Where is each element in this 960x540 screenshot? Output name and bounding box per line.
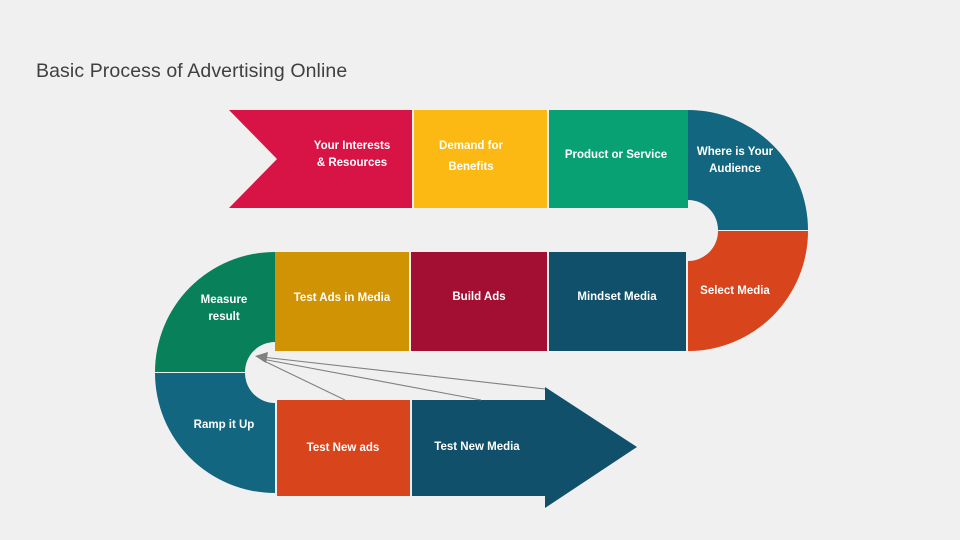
feedback-arrowhead-icon — [255, 352, 268, 363]
step-5-label: Select Media — [700, 285, 770, 297]
step-2-shape[interactable] — [414, 110, 547, 208]
step-1-label-line2: & Resources — [317, 157, 387, 169]
step-2-label-line2: Benefits — [448, 161, 493, 173]
step-10-label: Ramp it Up — [194, 419, 255, 431]
step-4-label-line1: Where is Your — [697, 146, 774, 158]
step-2-label-line1: Demand for — [439, 140, 503, 152]
step-10-shape[interactable] — [155, 373, 275, 493]
step-11-label: Test New ads — [307, 442, 380, 454]
step-12-label: Test New Media — [434, 441, 520, 453]
step-1-label-line1: Your Interests — [314, 140, 390, 152]
step-8-label: Test Ads in Media — [294, 292, 391, 304]
feedback-line-1 — [262, 360, 345, 400]
process-diagram: Your Interests & Resources Demand for Be… — [0, 0, 960, 540]
step-9-label-line2: result — [208, 311, 239, 323]
feedback-line-3 — [262, 357, 545, 389]
step-9-label-line1: Measure — [201, 294, 248, 306]
step-3-label: Product or Service — [565, 149, 667, 161]
step-4-label-line2: Audience — [709, 163, 761, 175]
feedback-connectors — [255, 352, 545, 400]
slide-canvas: Basic Process of Advertising Online Your… — [0, 0, 960, 540]
step-7-label: Build Ads — [452, 291, 505, 303]
step-6-label: Mindset Media — [577, 291, 657, 303]
feedback-line-2 — [262, 359, 481, 400]
